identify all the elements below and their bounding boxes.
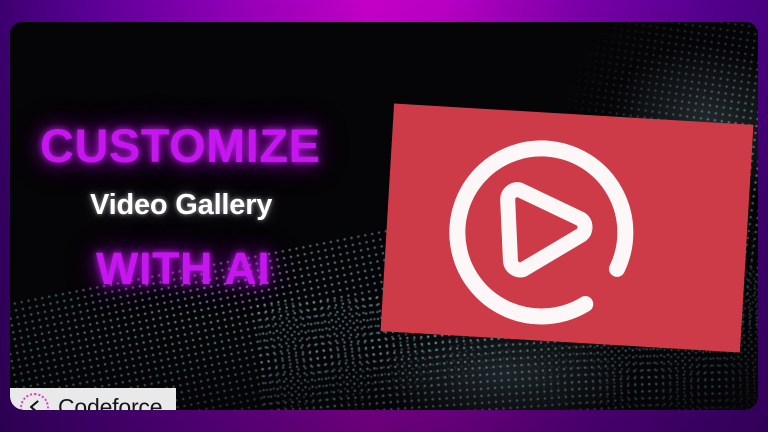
video-card[interactable] [381, 104, 754, 353]
play-circle-icon[interactable] [427, 110, 662, 345]
chevron-left-dotted-circle-icon [20, 393, 49, 411]
headline-secondary: Video Gallery [40, 191, 390, 220]
headline-primary: CUSTOMIZE [40, 122, 390, 169]
brand-name: Codeforce [58, 396, 162, 411]
video-thumbnail: CUSTOMIZE Video Gallery WITH AI [0, 0, 768, 432]
brand-logo-chip[interactable]: Codeforce [10, 388, 176, 410]
headline-tertiary: WITH AI [40, 246, 390, 291]
headline-group: CUSTOMIZE Video Gallery WITH AI [40, 122, 390, 291]
thumbnail-stage: CUSTOMIZE Video Gallery WITH AI [10, 22, 758, 410]
